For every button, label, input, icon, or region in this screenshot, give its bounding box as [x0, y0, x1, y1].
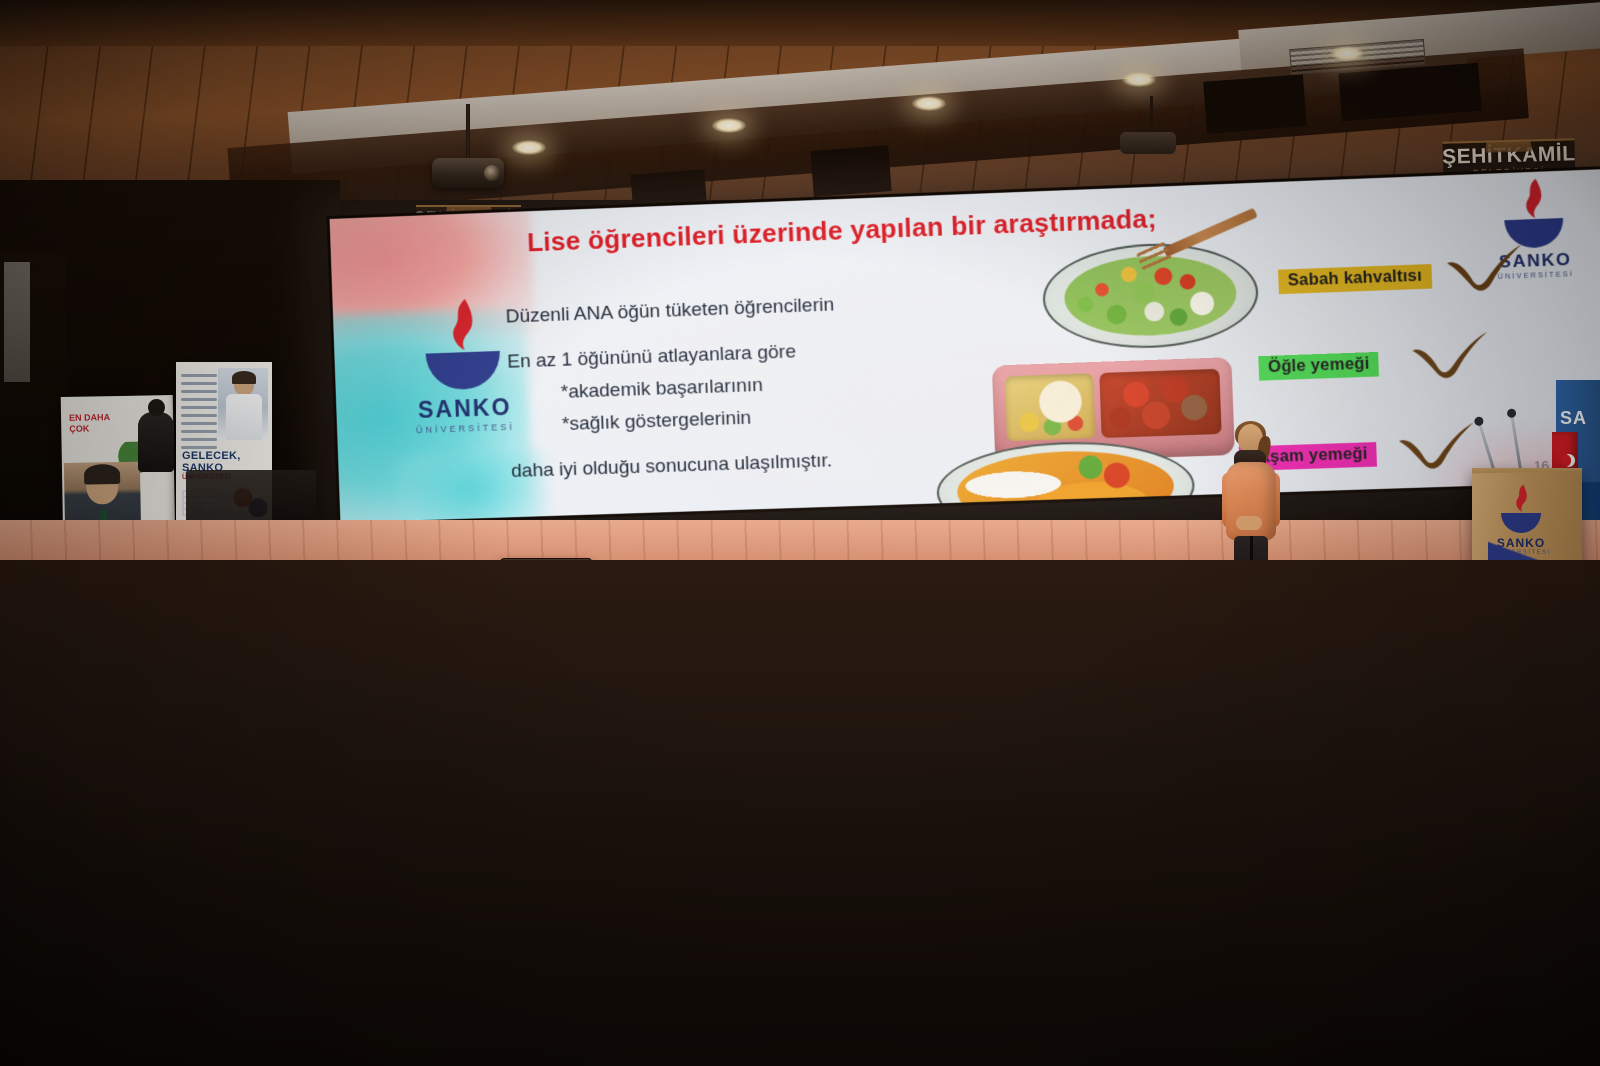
sanko-bowl-icon	[426, 351, 502, 391]
audience-seating	[0, 560, 1600, 1066]
ceiling-recess	[810, 145, 891, 197]
projector-mount-rod-2	[1150, 96, 1153, 136]
sanko-flame-icon	[1516, 177, 1549, 221]
ceiling-projector-2	[1120, 132, 1176, 154]
dinner-photo	[935, 438, 1196, 526]
checkmark-icon	[1396, 420, 1477, 474]
left-wall-panel	[4, 262, 30, 382]
meal-label-breakfast: Sabah kahvaltısı	[1278, 264, 1432, 294]
sanko-flame-icon	[441, 297, 483, 355]
ceiling-recess	[1203, 74, 1307, 134]
ceiling-projector	[432, 158, 504, 188]
checkmark-icon	[1410, 330, 1491, 384]
doctor-hair	[232, 371, 256, 384]
doctor-lab-coat	[226, 394, 262, 440]
ceiling-downlight	[1330, 46, 1364, 61]
checkmark-icon	[1444, 242, 1526, 296]
presentation-slide: SANKO ÜNİVERSİTESİ SANKO ÜNİVERSİTESİ Li…	[330, 169, 1600, 523]
projection-screen: SANKO ÜNİVERSİTESİ SANKO ÜNİVERSİTESİ Li…	[326, 166, 1600, 526]
banner-headline: EN DAHAÇOK	[69, 412, 110, 434]
tray-compartment-left	[1005, 373, 1096, 441]
auditorium-photo: ŞEHİTKAMİL BELEDİYESİ ŞEHİTKAMİL BELEDİY…	[0, 0, 1600, 1066]
presenter-hands	[1236, 516, 1262, 530]
ceiling-downlight	[912, 96, 946, 111]
projector-lens-icon	[484, 165, 500, 181]
tray-compartment-right	[1099, 369, 1221, 438]
banner-bullet-list	[181, 374, 217, 454]
ceiling-downlight	[712, 118, 746, 133]
sanko-bowl-icon	[1501, 513, 1541, 533]
sehitkamil-arch-icon	[1485, 138, 1532, 152]
sanko-wordmark: SANKO	[406, 393, 523, 424]
breakfast-photo	[1041, 240, 1260, 352]
crescent-icon	[1558, 454, 1571, 467]
ceiling-downlight	[1122, 72, 1156, 87]
sanko-flame-icon	[1510, 484, 1532, 514]
portrait-hair	[84, 464, 120, 485]
lectern-top	[1472, 468, 1582, 474]
meal-label-lunch: Öğle yemeği	[1258, 352, 1379, 381]
backstage-person	[138, 412, 174, 472]
right-pillar-text: SA	[1560, 408, 1587, 429]
projector-mount-rod	[466, 104, 470, 162]
ceiling-downlight	[512, 140, 546, 155]
banner-doctor-photo	[218, 368, 268, 440]
